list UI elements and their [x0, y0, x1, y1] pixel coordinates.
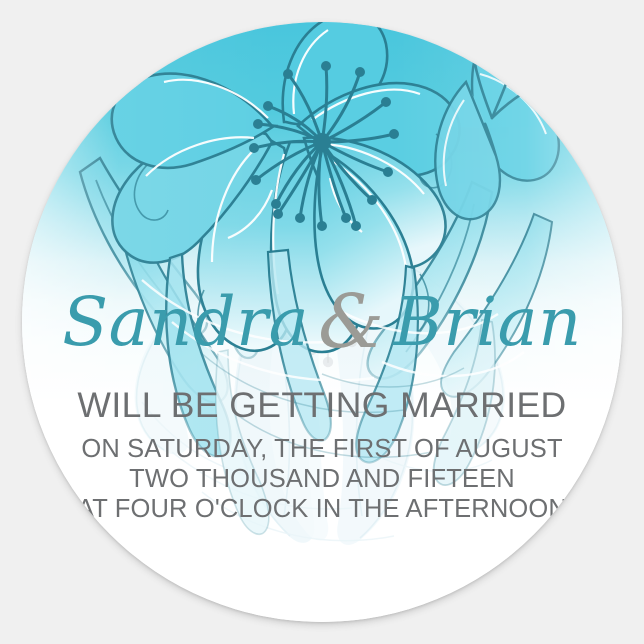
announcement-details: ON SATURDAY, THE FIRST OF AUGUST TWO THO…: [22, 434, 622, 524]
couple-names: Sandra&Brian: [22, 285, 622, 359]
detail-line-date: ON SATURDAY, THE FIRST OF AUGUST: [22, 434, 622, 464]
bride-name: Sandra: [62, 283, 309, 361]
detail-line-year: TWO THOUSAND AND FIFTEEN: [22, 464, 622, 494]
sticker-canvas: Sandra&Brian WILL BE GETTING MARRIED ON …: [0, 0, 644, 644]
announcement-headline: WILL BE GETTING MARRIED: [22, 388, 622, 424]
text-block: Sandra&Brian WILL BE GETTING MARRIED ON …: [22, 22, 622, 622]
round-sticker: Sandra&Brian WILL BE GETTING MARRIED ON …: [22, 22, 622, 622]
detail-line-time: AT FOUR O'CLOCK IN THE AFTERNOON: [22, 494, 622, 524]
groom-name: Brian: [393, 283, 581, 361]
ampersand-symbol: &: [309, 279, 393, 365]
